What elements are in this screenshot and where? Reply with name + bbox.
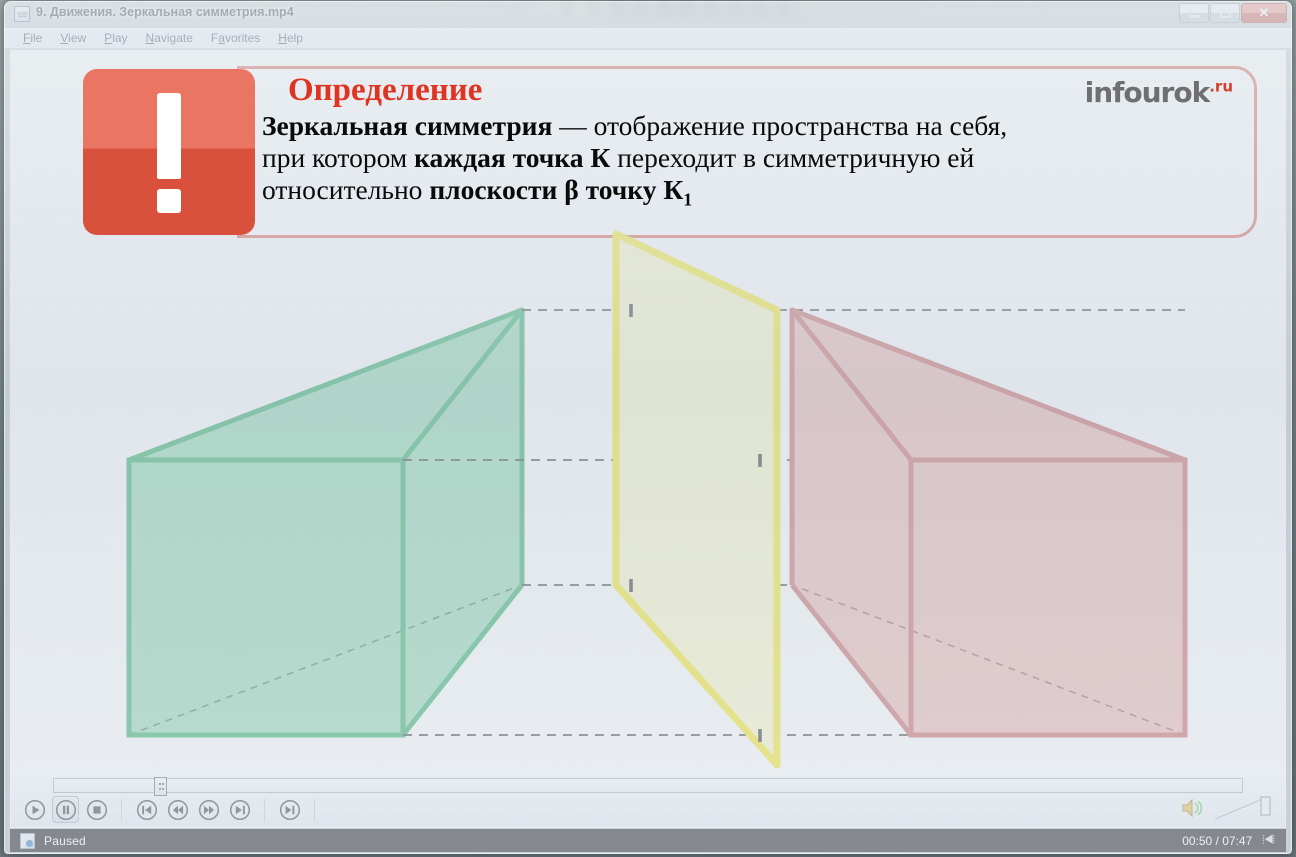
symmetry-plane-beta	[616, 234, 777, 765]
exclamation-dot	[157, 189, 181, 213]
menu-item-help[interactable]: Help	[269, 29, 312, 47]
button-separator-2	[264, 799, 265, 821]
fast-forward-button[interactable]	[195, 796, 222, 823]
status-bar: Paused 00:50 / 07:47 ⦙◀⦙	[10, 829, 1286, 852]
speaker-icon[interactable]	[1181, 796, 1207, 820]
maximize-button[interactable]	[1210, 3, 1240, 23]
media-file-icon: 123	[14, 6, 30, 22]
button-separator-3	[314, 799, 315, 821]
menu-item-navigate[interactable]: Navigate	[137, 29, 202, 47]
menu-bar: FFileile View Play Navigate Favorites He…	[4, 28, 1292, 49]
status-media-icon	[20, 833, 35, 849]
close-button[interactable]: ✕	[1241, 3, 1287, 23]
red-prism	[792, 310, 1185, 735]
screen: 123 9. Движения. Зеркальная симметрия.mp…	[0, 0, 1296, 857]
definition-line-2: при котором каждая точка К переходит в с…	[262, 142, 1262, 174]
title-bar[interactable]: 123 9. Движения. Зеркальная симметрия.mp…	[4, 1, 1292, 27]
exclamation-icon	[83, 69, 255, 235]
seek-bar[interactable]	[53, 778, 1243, 793]
seek-thumb[interactable]	[154, 777, 167, 796]
menu-item-play[interactable]: Play	[95, 29, 136, 47]
maximize-icon	[1220, 9, 1231, 18]
exclamation-bar	[157, 93, 181, 179]
minimize-icon	[1189, 15, 1200, 18]
minimize-button[interactable]	[1179, 3, 1209, 23]
stop-button[interactable]	[83, 796, 110, 823]
step-frame-button[interactable]	[276, 796, 303, 823]
logo-tld: .ru	[1209, 78, 1233, 96]
play-button[interactable]	[21, 796, 48, 823]
green-front-face	[129, 460, 403, 735]
menu-item-favorites[interactable]: Favorites	[202, 29, 269, 47]
button-separator-1	[121, 799, 122, 821]
status-text: Paused	[44, 834, 86, 848]
green-prism	[129, 310, 522, 735]
red-front-face	[911, 460, 1185, 735]
next-button[interactable]	[226, 796, 253, 823]
menu-item-file[interactable]: FFileile	[14, 29, 51, 47]
audio-meter-icon: ⦙◀⦙	[1262, 834, 1274, 847]
window-buttons: ✕	[1179, 3, 1287, 23]
status-right: 00:50 / 07:47 ⦙◀⦙	[1182, 834, 1274, 848]
definition-line-1: Зеркальная симметрия — отображение прост…	[262, 110, 1262, 142]
volume-slider[interactable]	[1213, 794, 1273, 822]
transport-controls	[10, 771, 1286, 828]
previous-button[interactable]	[133, 796, 160, 823]
video-canvas[interactable]: Определение Зеркальная симметрия — отобр…	[10, 50, 1286, 771]
playback-button-row	[21, 796, 322, 823]
infourok-logo: infourok.ru	[1085, 76, 1233, 109]
time-display: 00:50 / 07:47	[1182, 834, 1252, 848]
pause-button[interactable]	[52, 796, 79, 823]
plane-face	[616, 234, 777, 765]
window-title: 9. Движения. Зеркальная симметрия.mp4	[36, 5, 294, 19]
menu-item-view[interactable]: View	[51, 29, 95, 47]
definition-line-3: относительно плоскости β точку К1	[262, 174, 1262, 211]
media-player-window: 123 9. Движения. Зеркальная симметрия.mp…	[4, 1, 1292, 854]
rewind-button[interactable]	[164, 796, 191, 823]
